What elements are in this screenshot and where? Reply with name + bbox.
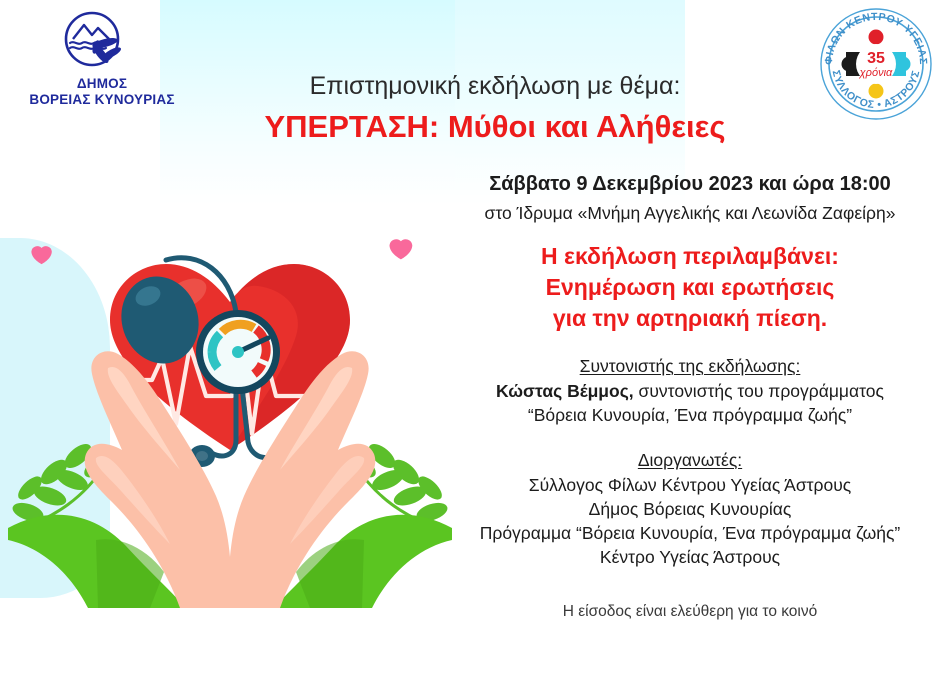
moderator-name: Κώστας Βέμμος, — [496, 381, 634, 401]
hands-holding-heart-with-blood-pressure-gauge-icon — [0, 228, 460, 608]
includes-line-3: για την αρτηριακή πίεση. — [440, 303, 940, 334]
moderator-section: Συντονιστής της εκδήλωσης: Κώστας Βέμμος… — [440, 355, 940, 427]
organizers-heading: Διοργανωτές: — [440, 449, 940, 473]
poster-canvas: ΔΗΜΟΣ ΒΟΡΕΙΑΣ ΚΥΝΟΥΡΙΑΣ ΦΙΛΩΝ ΚΕΝΤΡΟΥ ΥΓ… — [0, 0, 950, 673]
blood-pressure-gauge — [196, 310, 280, 394]
includes-line-2: Ενημέρωση και ερωτήσεις — [440, 272, 940, 303]
health-center-friends-association-logo: ΦΙΛΩΝ ΚΕΝΤΡΟΥ ΥΓΕΙΑΣ ΣΥΛΛΟΓΟΣ • ΑΣΤΡΟΥΣ … — [814, 2, 938, 126]
svg-text:35: 35 — [867, 50, 885, 67]
moderator-program: “Βόρεια Κυνουρία, Ένα πρόγραμμα ζωής” — [440, 403, 940, 427]
organizer-item: Κέντρο Υγείας Άστρους — [440, 545, 940, 569]
event-venue: στο Ίδρυμα «Μνήμη Αγγελικής και Λεωνίδα … — [440, 202, 940, 225]
event-details-column: Σάββατο 9 Δεκεμβρίου 2023 και ώρα 18:00 … — [440, 172, 940, 622]
hands-holding-heart-illustration — [0, 228, 460, 608]
event-includes-block: Η εκδήλωση περιλαμβάνει: Ενημέρωση και ε… — [440, 241, 940, 334]
free-admission-note: Η είσοδος είναι ελεύθερη για το κοινό — [440, 602, 940, 622]
headline-title: ΥΠΕΡΤΑΣΗ: Μύθοι και Αλήθειες — [195, 108, 795, 145]
mountains-waves-olive-branch-circle-icon — [56, 8, 148, 70]
headline-kicker: Επιστημονική εκδήλωση με θέμα: — [195, 72, 795, 102]
moderator-name-role: Κώστας Βέμμος, συντονιστής του προγράμμα… — [440, 379, 940, 403]
event-datetime: Σάββατο 9 Δεκεμβρίου 2023 και ώρα 18:00 — [440, 172, 940, 198]
people-cross-circle-icon: ΦΙΛΩΝ ΚΕΝΤΡΟΥ ΥΓΕΙΑΣ ΣΥΛΛΟΓΟΣ • ΑΣΤΡΟΥΣ … — [814, 2, 938, 126]
municipality-logo-label: ΔΗΜΟΣ ΒΟΡΕΙΑΣ ΚΥΝΟΥΡΙΑΣ — [22, 76, 182, 108]
includes-line-1: Η εκδήλωση περιλαμβάνει: — [440, 241, 940, 272]
svg-text:χρόνια: χρόνια — [859, 67, 893, 79]
municipality-logo: ΔΗΜΟΣ ΒΟΡΕΙΑΣ ΚΥΝΟΥΡΙΑΣ — [22, 8, 182, 116]
organizers-section: Διοργανωτές: Σύλλογος Φίλων Κέντρου Υγεί… — [440, 449, 940, 569]
moderator-heading: Συντονιστής της εκδήλωσης: — [440, 355, 940, 379]
organizer-item: Σύλλογος Φίλων Κέντρου Υγείας Άστρους — [440, 473, 940, 497]
organizer-item: Πρόγραμμα “Βόρεια Κυνουρία, Ένα πρόγραμμ… — [440, 521, 940, 545]
decorative-pink-hearts — [31, 239, 412, 264]
municipality-logo-line1: ΔΗΜΟΣ — [22, 76, 182, 92]
headline-block: Επιστημονική εκδήλωση με θέμα: ΥΠΕΡΤΑΣΗ:… — [195, 72, 795, 145]
moderator-role: συντονιστής του προγράμματος — [634, 381, 884, 401]
municipality-logo-line2: ΒΟΡΕΙΑΣ ΚΥΝΟΥΡΙΑΣ — [22, 92, 182, 108]
organizer-item: Δήμος Βόρειας Κυνουρίας — [440, 497, 940, 521]
